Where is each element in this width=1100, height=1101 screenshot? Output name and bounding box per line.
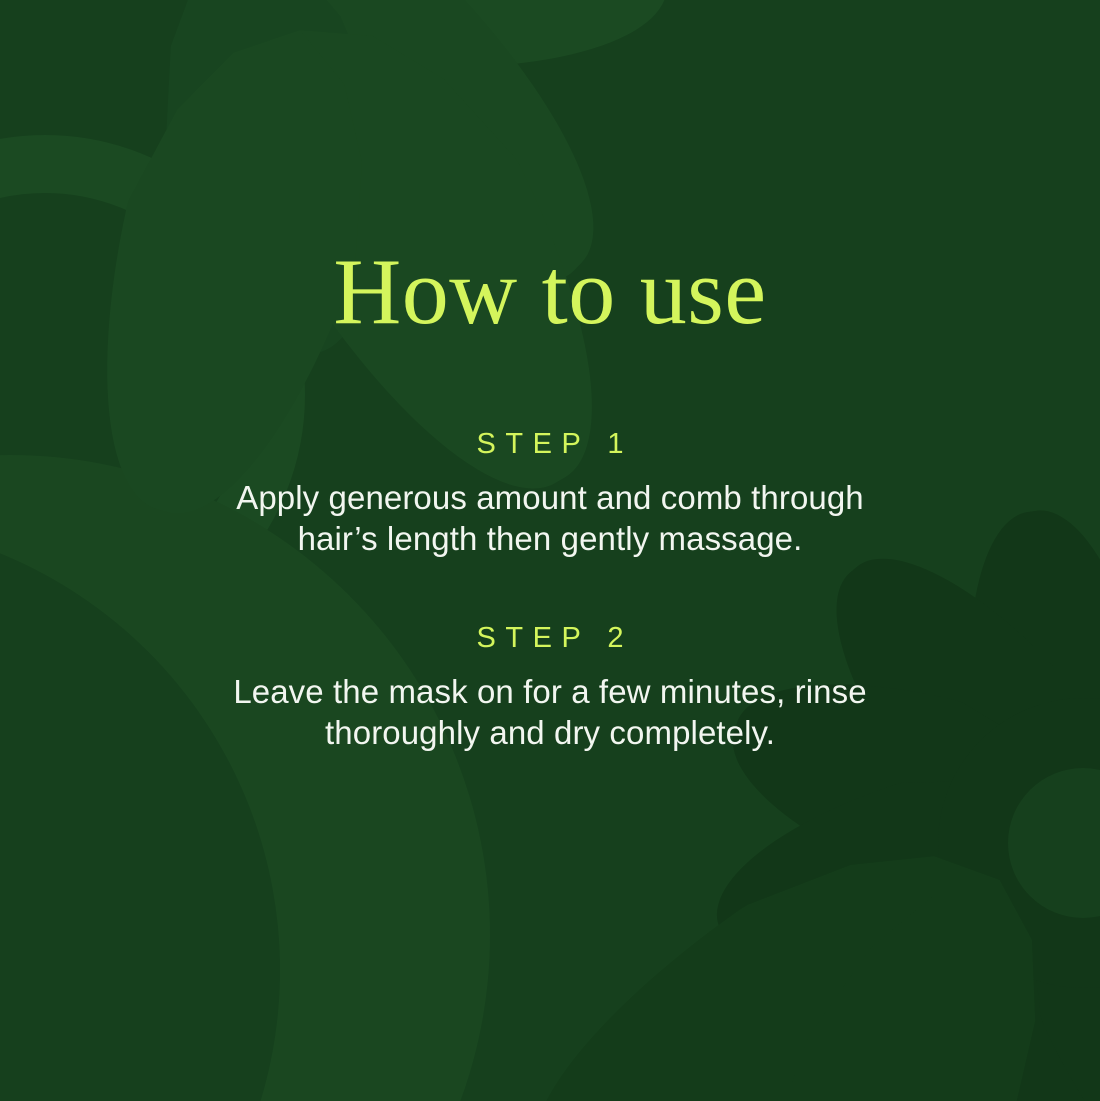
step-2-line-1: Leave the mask on for a few minutes, rin… [200, 672, 900, 713]
steps-list: STEP 1 Apply generous amount and comb th… [0, 430, 1100, 754]
step-2-body: Leave the mask on for a few minutes, rin… [200, 672, 900, 754]
step-1-line-2: hair’s length then gently massage. [200, 519, 900, 560]
how-to-use-card: How to use STEP 1 Apply generous amount … [0, 0, 1100, 1101]
step-2-label: STEP 2 [0, 624, 1100, 653]
step-1-line-1: Apply generous amount and comb through [200, 478, 900, 519]
step-1-label: STEP 1 [0, 430, 1100, 459]
step-item-2: STEP 2 Leave the mask on for a few minut… [0, 624, 1100, 754]
step-2-line-2: thoroughly and dry completely. [200, 713, 900, 754]
page-title: How to use [0, 243, 1100, 342]
content-area: How to use STEP 1 Apply generous amount … [0, 0, 1100, 1101]
step-1-body: Apply generous amount and comb through h… [200, 478, 900, 560]
step-item-1: STEP 1 Apply generous amount and comb th… [0, 430, 1100, 560]
